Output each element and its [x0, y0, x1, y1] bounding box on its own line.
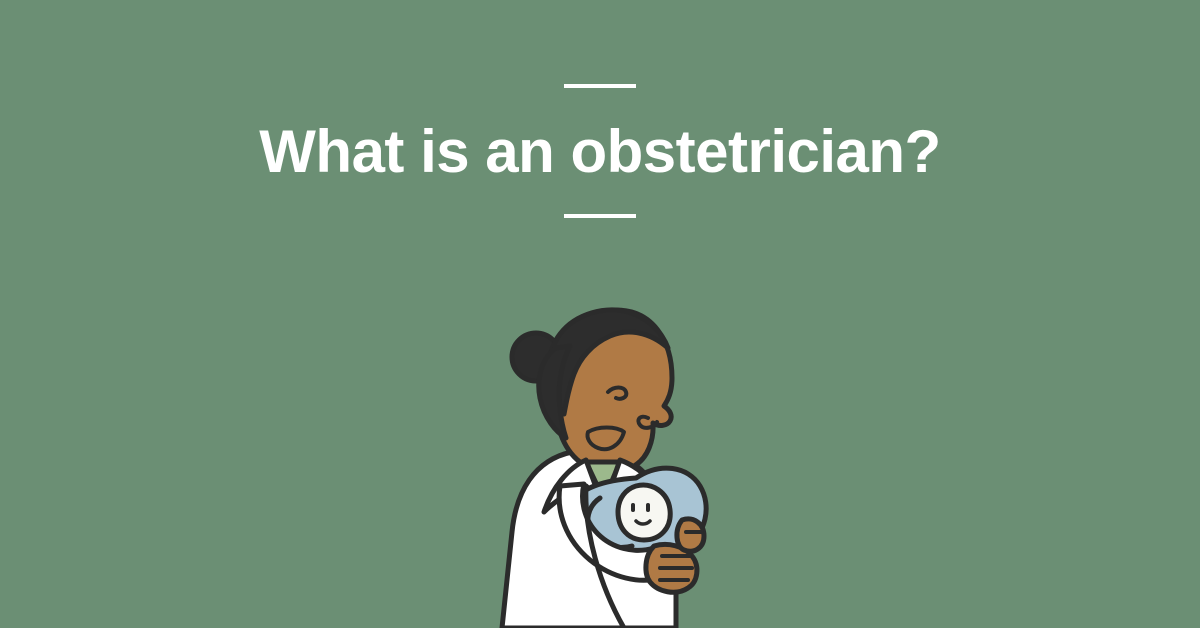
thumb-shape [677, 519, 704, 551]
nose-shape [638, 417, 657, 428]
hand-shape [646, 544, 697, 592]
hair-shape [548, 310, 668, 414]
coat-front-edge [586, 486, 624, 628]
face-shape [554, 310, 672, 472]
mouth-shape [587, 428, 624, 450]
divider-bottom [564, 214, 636, 218]
eye-shape [608, 388, 626, 399]
baby-swaddle [571, 468, 706, 558]
divider-top [564, 84, 636, 88]
coat-lapel-right [606, 460, 654, 500]
page-title: What is an obstetrician? [259, 122, 940, 182]
header-block: What is an obstetrician? [0, 0, 1200, 260]
coat-sleeve-arm [559, 484, 660, 580]
baby-mouth [636, 521, 650, 524]
hero-banner: What is an obstetrician? [0, 0, 1200, 628]
hair-side-sweep [539, 346, 570, 438]
swaddle-fold [588, 498, 632, 548]
baby-face [618, 485, 670, 540]
white-coat-body [502, 452, 676, 628]
coat-lapel-left [544, 460, 600, 512]
hair-bun-shape [512, 333, 560, 381]
shirt-collar [586, 462, 620, 500]
